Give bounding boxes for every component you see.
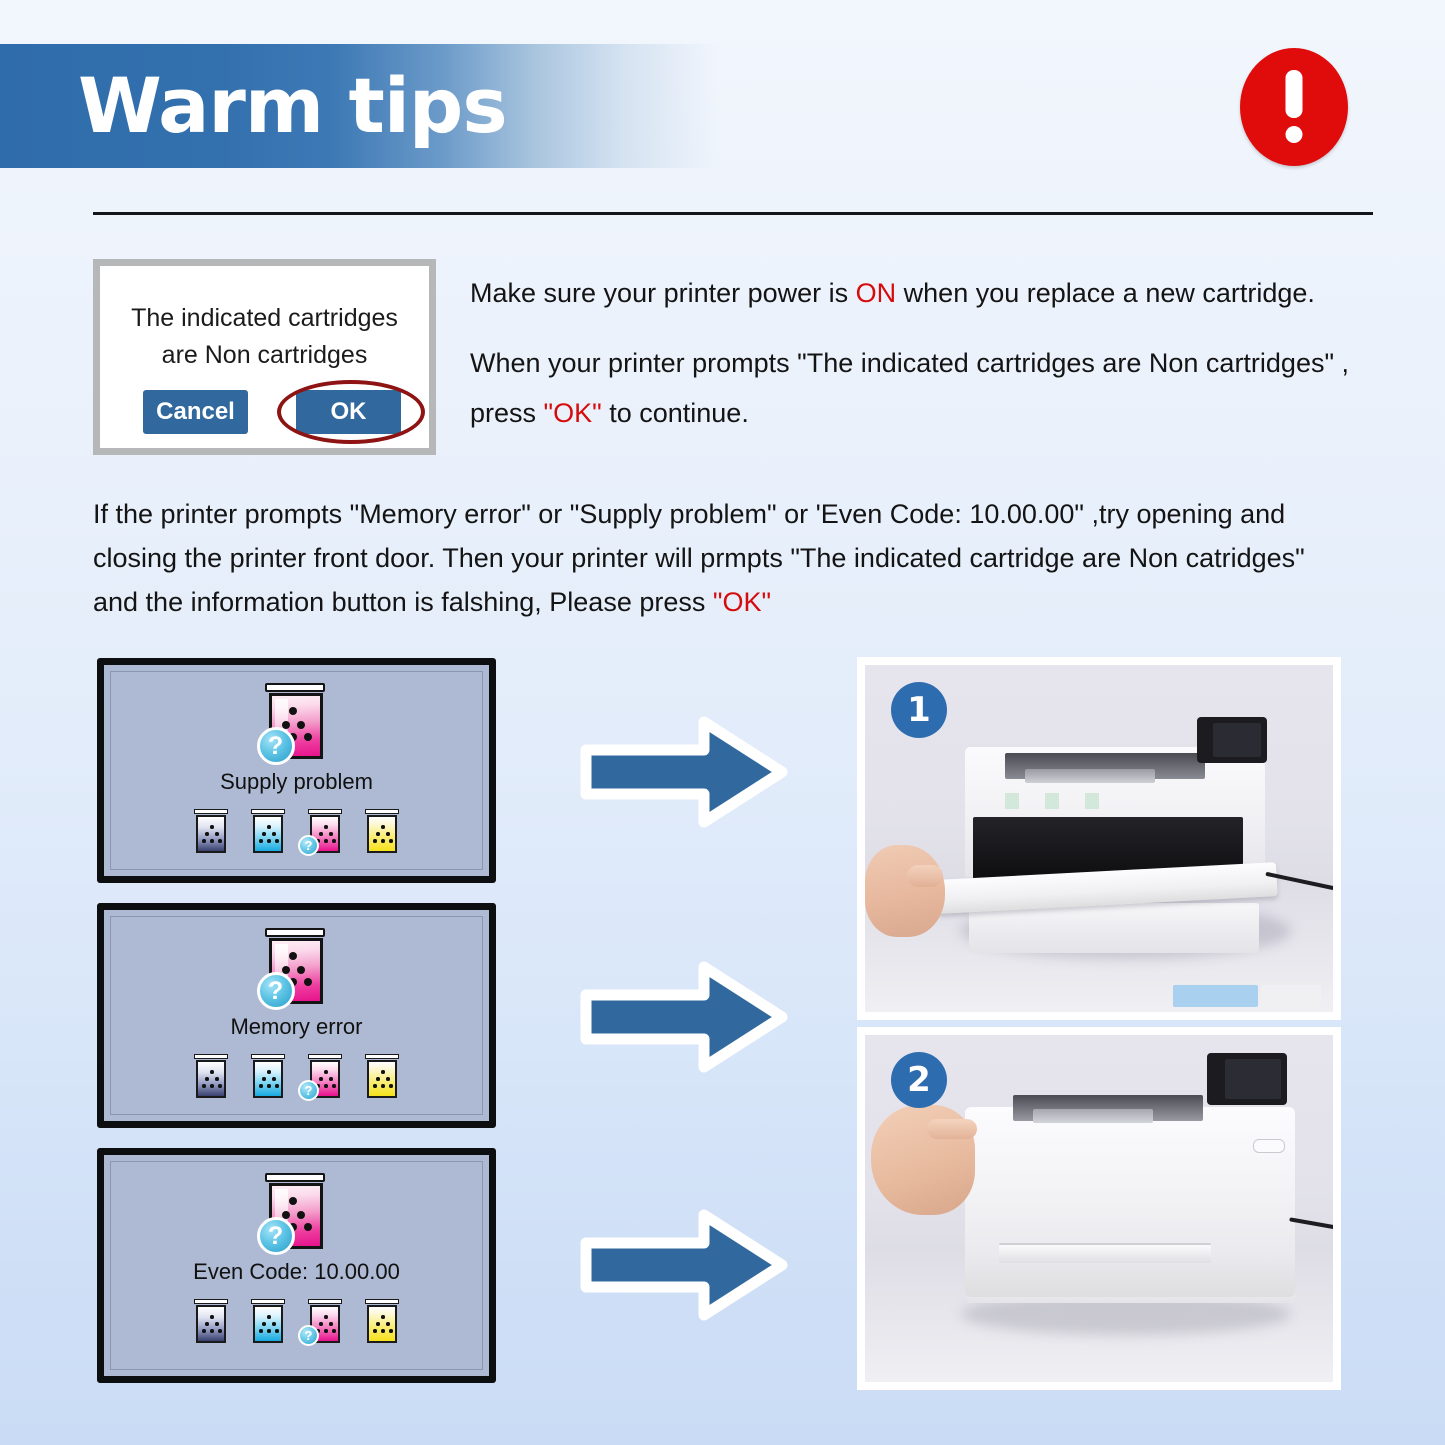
question-badge-icon: ? xyxy=(298,1325,319,1346)
arrow-right-svg xyxy=(578,957,790,1077)
intro-paragraph-2: When your printer prompts "The indicated… xyxy=(470,338,1375,438)
hand xyxy=(871,1105,975,1215)
toner-dots xyxy=(250,809,286,855)
intro-p1-before: Make sure your printer power is xyxy=(470,278,856,308)
dialog-message-line2: are Non cartridges xyxy=(162,341,368,369)
printer-paper-tray xyxy=(969,903,1259,953)
question-badge-icon: ? xyxy=(298,1080,319,1101)
panel-label-2: Memory error xyxy=(104,1014,489,1040)
printer-screen-panel-2: ? Memory error ? xyxy=(97,903,496,1128)
body-paragraph-text: If the printer prompts "Memory error" or… xyxy=(93,499,1305,617)
printer-screen-panel-1: ? Supply problem ? xyxy=(97,658,496,883)
exclamation-circle-icon xyxy=(1240,48,1348,166)
intro-text-block: Make sure your printer power is ON when … xyxy=(470,268,1375,458)
toner-status-row-2: ? xyxy=(104,1054,489,1100)
dialog-button-row: Cancel OK xyxy=(100,390,429,438)
arrow-right-icon-3 xyxy=(578,1205,790,1325)
arrow-right-icon-1 xyxy=(578,712,790,832)
panel-label-3: Even Code: 10.00.00 xyxy=(104,1259,489,1285)
magenta-toner-question-icon: ? xyxy=(260,683,334,765)
toner-magenta-icon: ? xyxy=(307,1299,343,1345)
toner-yellow-icon xyxy=(364,809,400,855)
cartridge-blue-strip xyxy=(1173,985,1258,1007)
toner-black-icon xyxy=(193,1054,229,1100)
toner-dots xyxy=(364,809,400,855)
toner-cyan-icon xyxy=(250,1299,286,1345)
intro-paragraph-1: Make sure your printer power is ON when … xyxy=(470,268,1375,318)
printer-dialog-mockup: The indicated cartridges are Non cartrid… xyxy=(93,259,436,455)
magenta-toner-question-icon: ? xyxy=(260,928,334,1010)
toner-dots xyxy=(364,1054,400,1100)
intro-p1-highlight: ON xyxy=(856,278,897,308)
printer-screen-panel-3: ? Even Code: 10.00.00 ? xyxy=(97,1148,496,1383)
question-badge-icon: ? xyxy=(257,727,295,765)
question-badge-icon: ? xyxy=(257,1217,295,1255)
toner-dots xyxy=(250,1054,286,1100)
printer-control-panel xyxy=(1197,717,1267,763)
arrow-right-icon-2 xyxy=(578,957,790,1077)
toner-dots xyxy=(193,1299,229,1345)
page-title: Warm tips xyxy=(78,58,507,154)
arrow-right-svg xyxy=(578,712,790,832)
printer-body xyxy=(965,1107,1295,1297)
toner-magenta-icon: ? xyxy=(307,809,343,855)
intro-p1-after: when you replace a new cartridge. xyxy=(896,278,1315,308)
cancel-button[interactable]: Cancel xyxy=(143,390,248,434)
arrow-right-svg xyxy=(578,1205,790,1325)
control-panel-screen xyxy=(1213,723,1261,757)
toner-black-icon xyxy=(193,1299,229,1345)
step-badge-1: 1 xyxy=(891,682,947,738)
printer-top-lid-inner xyxy=(1033,1109,1153,1123)
exclamation-bar xyxy=(1286,70,1303,118)
power-button xyxy=(1253,1139,1285,1153)
printer-output-slot xyxy=(999,1243,1211,1263)
alert-disc xyxy=(1240,48,1348,166)
toner-magenta-icon: ? xyxy=(307,1054,343,1100)
dialog-message: The indicated cartridges are Non cartrid… xyxy=(100,300,429,374)
toner-cyan-icon xyxy=(250,809,286,855)
magenta-toner-question-icon: ? xyxy=(260,1173,334,1255)
step-badge-2: 2 xyxy=(891,1052,947,1108)
body-paragraph: If the printer prompts "Memory error" or… xyxy=(93,492,1338,624)
question-badge-icon: ? xyxy=(298,835,319,856)
toner-dots xyxy=(364,1299,400,1345)
printer-instruction-icons xyxy=(1005,793,1125,809)
printer-control-panel xyxy=(1207,1053,1287,1105)
header-divider xyxy=(93,212,1373,215)
printer-photo-1: 1 xyxy=(857,657,1341,1020)
exclamation-dot xyxy=(1286,126,1303,143)
dialog-message-line1: The indicated cartridges xyxy=(131,304,398,332)
printer-photo-2: 2 xyxy=(857,1027,1341,1390)
page-header: Warm tips xyxy=(0,0,1445,200)
toner-status-row-1: ? xyxy=(104,809,489,855)
ok-highlight-ellipse xyxy=(277,380,425,444)
toner-status-row-3: ? xyxy=(104,1299,489,1345)
toner-yellow-icon xyxy=(364,1054,400,1100)
intro-p2-after: to continue. xyxy=(602,398,749,428)
cartridge-label xyxy=(1261,985,1321,1013)
body-paragraph-highlight: "OK" xyxy=(713,587,771,617)
toner-dots xyxy=(250,1299,286,1345)
toner-dots xyxy=(193,1054,229,1100)
toner-dots xyxy=(193,809,229,855)
question-badge-icon: ? xyxy=(257,972,295,1010)
toner-cyan-icon xyxy=(250,1054,286,1100)
panel-label-1: Supply problem xyxy=(104,769,489,795)
power-cord xyxy=(1289,1217,1341,1232)
intro-p2-highlight: "OK" xyxy=(544,398,602,428)
toner-yellow-icon xyxy=(364,1299,400,1345)
control-panel-screen xyxy=(1225,1059,1281,1099)
toner-black-icon xyxy=(193,809,229,855)
hand xyxy=(865,845,945,937)
printer-top-lid-inner xyxy=(1025,769,1155,783)
